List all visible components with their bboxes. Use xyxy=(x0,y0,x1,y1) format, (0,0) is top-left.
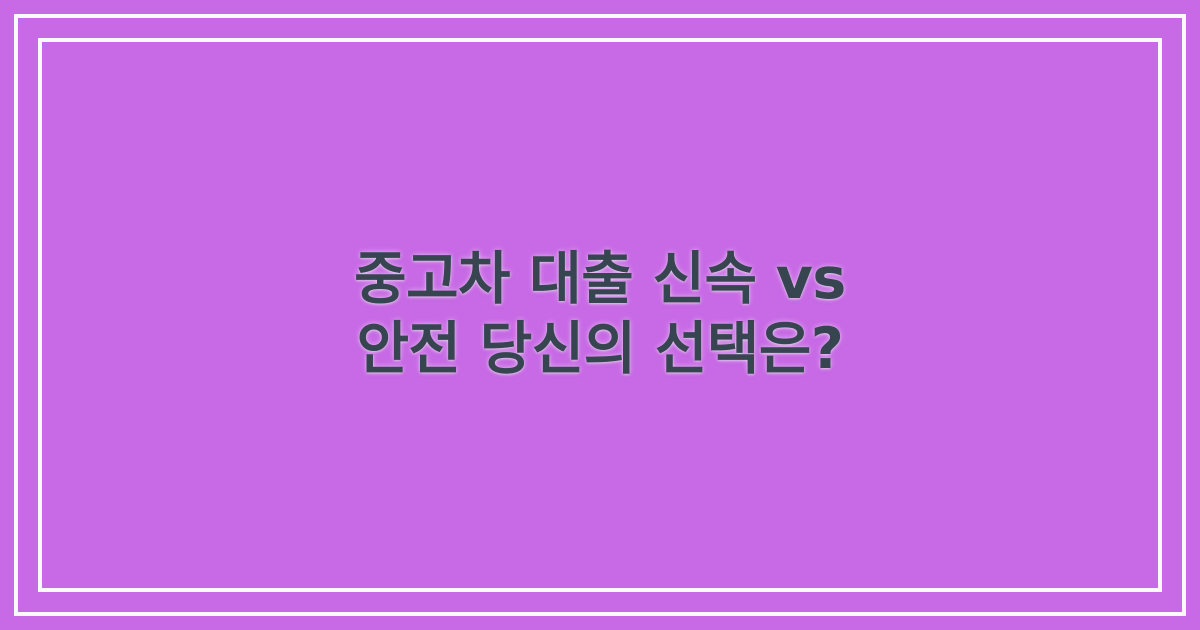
title-block: 중고차 대출 신속 vs 안전 당신의 선택은? xyxy=(0,0,1200,630)
page-title: 중고차 대출 신속 vs 안전 당신의 선택은? xyxy=(354,245,846,384)
page-title-line-2: 안전 당신의 선택은? xyxy=(354,315,846,385)
thumbnail-card: 중고차 대출 신속 vs 안전 당신의 선택은? xyxy=(0,0,1200,630)
page-title-line-1: 중고차 대출 신속 vs xyxy=(354,245,846,315)
